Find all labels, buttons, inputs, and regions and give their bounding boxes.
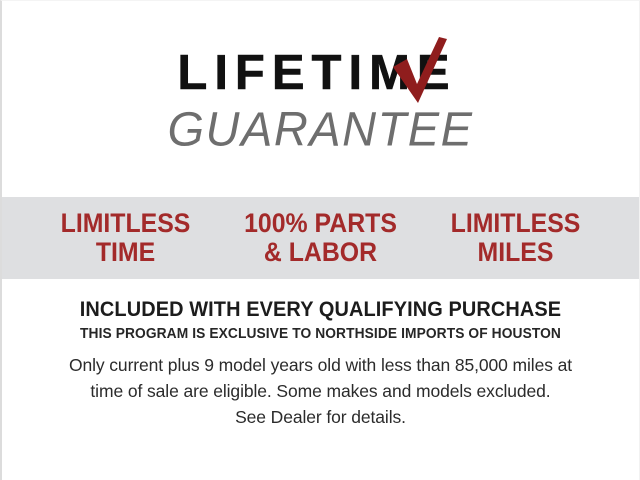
logo-block: LIFETIME GUARANTEE xyxy=(2,49,639,152)
fineprint-line: time of sale are eligible. Some makes an… xyxy=(28,379,613,405)
claim-line-2: TIME xyxy=(36,238,215,267)
claim-limitless-miles: LIMITLESS MILES xyxy=(426,209,605,266)
fineprint-line: Only current plus 9 model years old with… xyxy=(28,353,613,379)
headline-main: INCLUDED WITH EVERY QUALIFYING PURCHASE xyxy=(18,298,623,321)
lifetime-guarantee-ad: LIFETIME GUARANTEE LIMITLESS TIME 100% P… xyxy=(0,0,640,480)
claims-band: LIMITLESS TIME 100% PARTS & LABOR LIMITL… xyxy=(2,197,639,279)
claim-line-2: & LABOR xyxy=(231,238,410,267)
fineprint-block: Only current plus 9 model years old with… xyxy=(2,353,639,431)
logo-primary-text: LIFETIME xyxy=(177,49,463,98)
claim-limitless-time: LIMITLESS TIME xyxy=(36,209,215,266)
headline-block: INCLUDED WITH EVERY QUALIFYING PURCHASE … xyxy=(2,298,639,343)
claim-line-2: MILES xyxy=(426,238,605,267)
claim-line-1: LIMITLESS xyxy=(36,209,215,238)
logo-lockup: LIFETIME xyxy=(177,49,463,98)
fineprint-line: See Dealer for details. xyxy=(28,405,613,431)
claim-line-1: LIMITLESS xyxy=(426,209,605,238)
claim-line-1: 100% PARTS xyxy=(231,209,410,238)
logo-secondary-text: GUARANTEE xyxy=(2,105,639,153)
claim-parts-and-labor: 100% PARTS & LABOR xyxy=(231,209,410,266)
headline-sub: THIS PROGRAM IS EXCLUSIVE TO NORTHSIDE I… xyxy=(18,326,623,343)
